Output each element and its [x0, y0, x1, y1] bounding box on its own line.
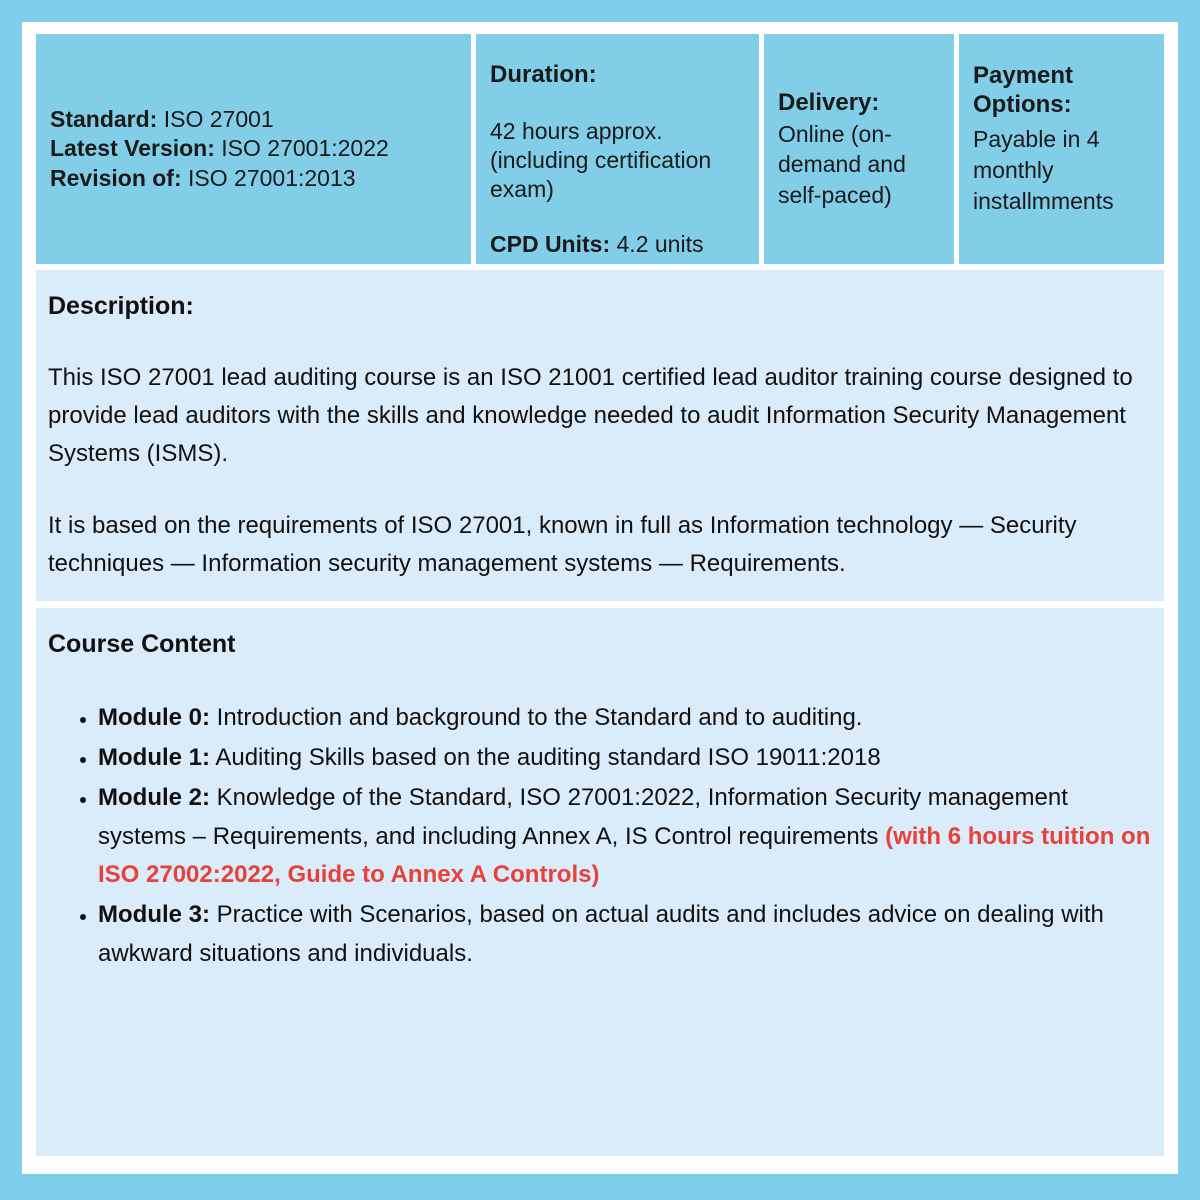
header-cell-payment-options: Payment Options: Payable in 4 monthly in…: [959, 34, 1164, 264]
cpd-units-line: CPD Units: 4.2 units: [490, 230, 745, 259]
module-name: Module 0:: [98, 704, 210, 731]
duration-label: Duration:: [490, 60, 745, 91]
module-list: Module 0: Introduction and background to…: [48, 699, 1152, 974]
latest-version-value: ISO 27001:2022: [221, 135, 389, 161]
course-info-sheet: Standard: ISO 27001 Latest Version: ISO …: [36, 34, 1164, 1156]
revision-of-line: Revision of: ISO 27001:2013: [50, 164, 457, 193]
latest-version-line: Latest Version: ISO 27001:2022: [50, 134, 457, 163]
standard-label: Standard:: [50, 106, 157, 132]
description-paragraph-2: It is based on the requirements of ISO 2…: [48, 507, 1152, 583]
cpd-units-value: 4.2 units: [617, 231, 704, 257]
description-paragraph-1: This ISO 27001 lead auditing course is a…: [48, 359, 1152, 473]
latest-version-label: Latest Version:: [50, 135, 215, 161]
description-panel: Description: This ISO 27001 lead auditin…: [36, 270, 1164, 601]
header-summary-row: Standard: ISO 27001 Latest Version: ISO …: [36, 34, 1164, 264]
payment-options-label: Payment Options:: [973, 62, 1150, 120]
module-text: Practice with Scenarios, based on actual…: [98, 901, 1104, 966]
list-item: Module 2: Knowledge of the Standard, ISO…: [98, 779, 1152, 894]
duration-value: 42 hours approx. (including certificatio…: [490, 117, 745, 204]
list-item: Module 0: Introduction and background to…: [98, 699, 1152, 737]
page-background: Standard: ISO 27001 Latest Version: ISO …: [0, 0, 1200, 1200]
module-name: Module 1:: [98, 744, 210, 771]
outer-frame: Standard: ISO 27001 Latest Version: ISO …: [22, 22, 1178, 1174]
payment-options-value: Payable in 4 monthly installmments: [973, 124, 1150, 218]
description-heading: Description:: [48, 292, 1152, 321]
header-cell-standard: Standard: ISO 27001 Latest Version: ISO …: [36, 34, 471, 264]
revision-of-value: ISO 27001:2013: [188, 165, 356, 191]
list-item: Module 3: Practice with Scenarios, based…: [98, 896, 1152, 973]
standard-value: ISO 27001: [164, 106, 274, 132]
module-text: Introduction and background to the Stand…: [210, 704, 862, 731]
module-name: Module 3:: [98, 901, 210, 928]
list-item: Module 1: Auditing Skills based on the a…: [98, 739, 1152, 777]
course-content-panel: Course Content Module 0: Introduction an…: [36, 608, 1164, 1156]
module-name: Module 2:: [98, 784, 210, 811]
header-cell-duration: Duration: 42 hours approx. (including ce…: [476, 34, 759, 264]
cpd-units-label: CPD Units:: [490, 231, 610, 257]
course-content-heading: Course Content: [48, 630, 1152, 659]
standard-line: Standard: ISO 27001: [50, 105, 457, 134]
module-text: Auditing Skills based on the auditing st…: [210, 744, 881, 771]
revision-of-label: Revision of:: [50, 165, 182, 191]
delivery-value: Online (on-demand and self-paced): [778, 119, 940, 210]
delivery-label: Delivery:: [778, 88, 940, 119]
header-cell-delivery: Delivery: Online (on-demand and self-pac…: [764, 34, 954, 264]
